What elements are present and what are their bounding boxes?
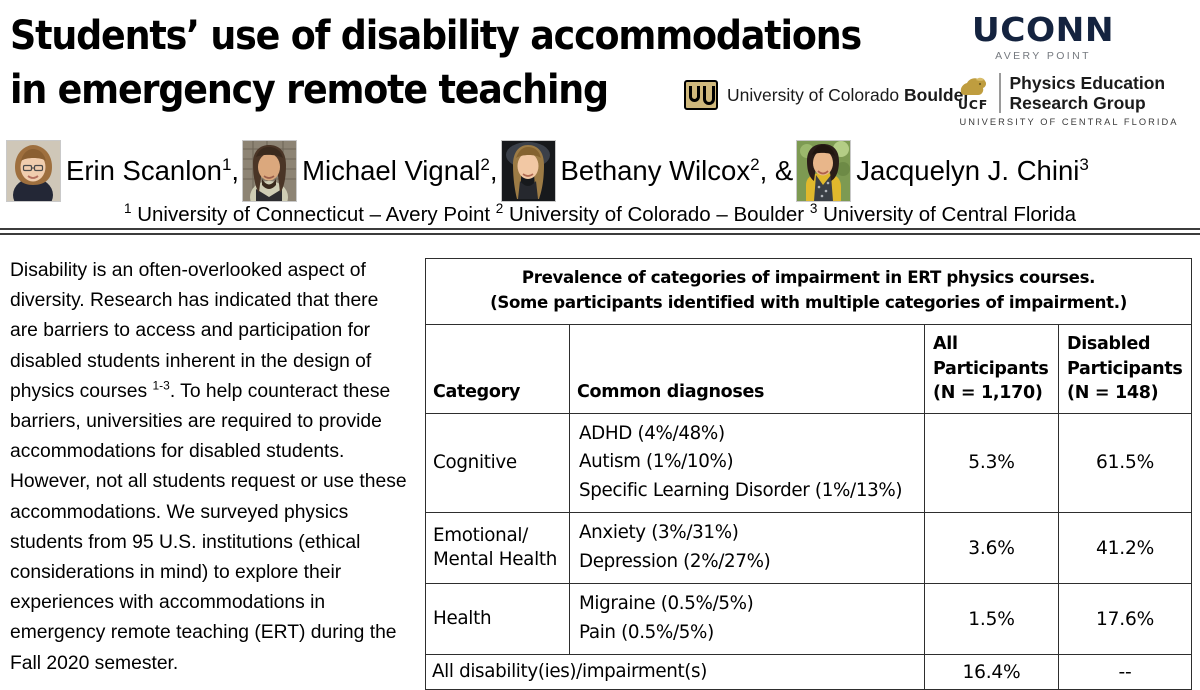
- table-caption-row: Prevalence of categories of impairment i…: [426, 259, 1192, 325]
- author-2-affil-marker: 2: [750, 155, 759, 174]
- ucf-university-label: UNIVERSITY OF CENTRAL FLORIDA: [949, 117, 1189, 127]
- row-2-category: Health: [426, 584, 570, 655]
- affiliation-line: 1 University of Connecticut – Avery Poin…: [0, 203, 1200, 227]
- row-0-diagnoses: ADHD (4%/48%) Autism (1%/10%) Specific L…: [570, 413, 925, 513]
- author-2-separator: , &: [760, 155, 794, 186]
- avatar: [796, 140, 851, 202]
- header-divider-upper: [0, 228, 1200, 230]
- author-2-name-text: Bethany Wilcox: [561, 155, 751, 186]
- intro-part-2: . To help counteract these barriers, uni…: [10, 381, 407, 674]
- ucf-group-name: Physics Education Research Group: [1010, 73, 1166, 113]
- author-0-name-text: Erin Scanlon: [66, 155, 222, 186]
- row-0-all-participants: 5.3%: [925, 413, 1059, 513]
- introduction-paragraph: Disability is an often-overlooked aspect…: [10, 256, 410, 679]
- avatar: [501, 140, 556, 202]
- column-header-all-participants: All Participants (N = 1,170): [925, 325, 1059, 414]
- table-row: Health Migraine (0.5%/5%) Pain (0.5%/5%)…: [426, 584, 1192, 655]
- headshot-erin-scanlon-icon: [7, 141, 60, 201]
- ucf-perg-logo: UCF Physics Education Research Group UNI…: [949, 73, 1189, 127]
- row-2-all-participants: 1.5%: [925, 584, 1059, 655]
- table-caption-line-2: (Some participants identified with multi…: [451, 291, 1166, 316]
- prevalence-table-container: Prevalence of categories of impairment i…: [425, 258, 1191, 690]
- author-list: Erin Scanlon1, Michael Vi: [0, 140, 1200, 202]
- ucf-logo-divider: [999, 73, 1001, 113]
- affil-2-text: University of Central Florida: [823, 203, 1076, 226]
- affil-2-marker: 3: [810, 201, 818, 216]
- prevalence-table: Prevalence of categories of impairment i…: [425, 258, 1192, 690]
- row-1-category: Emotional/ Mental Health: [426, 513, 570, 584]
- ucf-mark: UCF: [949, 75, 997, 112]
- row-2-diagnoses: Migraine (0.5%/5%) Pain (0.5%/5%): [570, 584, 925, 655]
- column-header-category: Category: [426, 325, 570, 414]
- disabled-participants-line-1: Disabled: [1067, 332, 1191, 357]
- headshot-jacquelyn-chini-icon: [797, 141, 850, 201]
- author-name-3: Jacquelyn J. Chini3: [851, 156, 1092, 186]
- affil-1-marker: 2: [496, 201, 504, 216]
- row-1-diagnosis-0: Anxiety (3%/31%): [579, 519, 920, 548]
- author-name-1: Michael Vignal2,: [297, 156, 500, 186]
- row-0-category: Cognitive: [426, 413, 570, 513]
- avatar: [242, 140, 297, 202]
- author-0-affil-marker: 1: [222, 155, 231, 174]
- ucf-group-line-2: Research Group: [1010, 93, 1166, 113]
- ucf-abbr-label: UCF: [949, 97, 997, 112]
- table-row: Emotional/ Mental Health Anxiety (3%/31%…: [426, 513, 1192, 584]
- column-header-diagnoses: Common diagnoses: [570, 325, 925, 414]
- row-0-diagnosis-2: Specific Learning Disorder (1%/13%): [579, 477, 920, 506]
- author-1-separator: ,: [490, 155, 498, 186]
- row-0-diagnosis-0: ADHD (4%/48%): [579, 420, 920, 449]
- ucf-group-line-1: Physics Education: [1010, 73, 1166, 93]
- row-2-diagnosis-0: Migraine (0.5%/5%): [579, 590, 920, 619]
- affil-1-text: University of Colorado – Boulder: [509, 203, 804, 226]
- row-2-diagnosis-1: Pain (0.5%/5%): [579, 619, 920, 648]
- affil-0-marker: 1: [124, 201, 132, 216]
- row-0-diagnosis-1: Autism (1%/10%): [579, 448, 920, 477]
- headshot-michael-vignal-icon: [243, 141, 296, 201]
- all-participants-line-1: All: [933, 332, 1058, 357]
- author-3-name-text: Jacquelyn J. Chini: [856, 155, 1079, 186]
- table-header-row: Category Common diagnoses All Participan…: [426, 325, 1192, 414]
- table-row: Cognitive ADHD (4%/48%) Autism (1%/10%) …: [426, 413, 1192, 513]
- uconn-logo: UCONN AVERY POINT: [968, 13, 1118, 62]
- author-name-2: Bethany Wilcox2, &: [556, 156, 797, 186]
- total-row-all-participants: 16.4%: [925, 655, 1059, 690]
- affil-0-text: University of Connecticut – Avery Point: [137, 203, 490, 226]
- header-divider-lower: [0, 233, 1200, 235]
- uconn-wordmark: UCONN: [965, 13, 1121, 46]
- poster-header: Students’ use of disability accommodatio…: [0, 0, 1200, 231]
- disabled-participants-line-3: (N = 148): [1067, 381, 1191, 406]
- cu-interlocking-icon: [684, 80, 718, 110]
- all-participants-line-2: Participants: [933, 357, 1058, 382]
- table-caption: Prevalence of categories of impairment i…: [426, 259, 1192, 325]
- row-1-diagnosis-1: Depression (2%/27%): [579, 548, 920, 577]
- cu-boulder-logo: University of Colorado Boulder: [684, 80, 970, 110]
- row-1-disabled-participants: 41.2%: [1059, 513, 1192, 584]
- ucf-logo-row: UCF Physics Education Research Group: [949, 73, 1189, 113]
- cu-text-plain: University of Colorado: [727, 85, 904, 105]
- column-header-disabled-participants: Disabled Participants (N = 148): [1059, 325, 1192, 414]
- cu-boulder-label: University of Colorado Boulder: [727, 85, 970, 106]
- table-total-row: All disability(ies)/impairment(s) 16.4% …: [426, 655, 1192, 690]
- row-0-disabled-participants: 61.5%: [1059, 413, 1192, 513]
- disabled-participants-line-2: Participants: [1067, 357, 1191, 382]
- title-line-1: Students’ use of disability accommodatio…: [10, 8, 874, 62]
- uconn-campus-label: AVERY POINT: [968, 50, 1118, 62]
- author-0-separator: ,: [231, 155, 239, 186]
- author-3-affil-marker: 3: [1079, 155, 1088, 174]
- total-row-disabled-participants: --: [1059, 655, 1192, 690]
- headshot-bethany-wilcox-icon: [502, 141, 555, 201]
- row-2-disabled-participants: 17.6%: [1059, 584, 1192, 655]
- row-1-diagnoses: Anxiety (3%/31%) Depression (2%/27%): [570, 513, 925, 584]
- intro-citation: 1-3: [153, 378, 170, 392]
- author-1-name-text: Michael Vignal: [302, 155, 480, 186]
- poster-slide: Students’ use of disability accommodatio…: [0, 0, 1200, 675]
- total-row-label: All disability(ies)/impairment(s): [426, 655, 925, 690]
- author-1-affil-marker: 2: [480, 155, 489, 174]
- author-name-0: Erin Scanlon1,: [61, 156, 242, 186]
- pegasus-icon: [958, 75, 988, 98]
- table-caption-line-1: Prevalence of categories of impairment i…: [451, 266, 1166, 291]
- all-participants-line-3: (N = 1,170): [933, 381, 1058, 406]
- avatar: [6, 140, 61, 202]
- row-1-all-participants: 3.6%: [925, 513, 1059, 584]
